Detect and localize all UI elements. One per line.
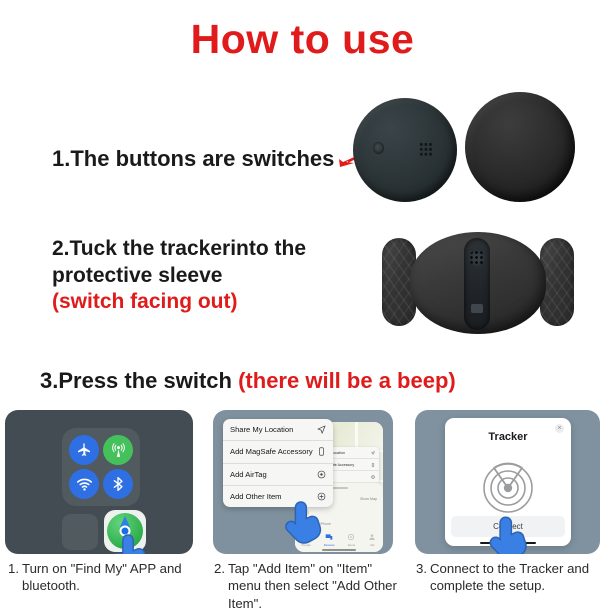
dialog-title: Tracker	[445, 431, 571, 443]
paper-plane-icon	[371, 451, 375, 455]
airtag-icon	[371, 475, 375, 479]
paper-plane-icon	[317, 425, 326, 434]
airplane-mode-toggle[interactable]	[69, 435, 99, 465]
caption-1: 1. Turn on "Find My" APP and bluetooth.	[8, 560, 203, 595]
cellular-data-toggle[interactable]	[103, 435, 133, 465]
wifi-toggle[interactable]	[69, 469, 99, 499]
caption-body: Tap "Add Item" on "Item" menu then selec…	[214, 560, 404, 612]
airplane-icon	[76, 442, 92, 458]
phone-icon	[317, 447, 326, 456]
items-icon	[347, 533, 355, 541]
step-2-text: 2.Tuck the trackerinto the protective sl…	[52, 236, 306, 316]
home-indicator	[322, 549, 356, 551]
menu-item-label: Add MagSafe Accessory	[230, 447, 313, 456]
caption-body: Turn on "Find My" APP and bluetooth.	[8, 560, 203, 595]
menu-item-add-magsafe-accessory[interactable]: Add MagSafe Accessory	[223, 441, 333, 463]
panel-tracker-dialog: Tracker × Connect	[415, 410, 600, 554]
step-3-red-text: (there will be a beep)	[238, 368, 456, 393]
tracker-button-icon	[373, 142, 384, 154]
caption-number: 3.	[416, 560, 427, 577]
tab-items[interactable]: Items	[347, 533, 355, 547]
tracker-speaker-grille-icon	[469, 250, 485, 266]
cellular-antenna-icon	[110, 442, 127, 459]
caption-number: 1.	[8, 560, 19, 577]
step-2-line-1: 2.Tuck the trackerinto the	[52, 236, 306, 263]
tab-label: Devices	[324, 543, 335, 547]
show-map-link[interactable]: Show Map	[360, 497, 377, 501]
step-2-line-2: protective sleeve	[52, 263, 306, 290]
step-captions: 1. Turn on "Find My" APP and bluetooth. …	[0, 560, 605, 614]
menu-item-share-my-location[interactable]: Share My Location	[223, 419, 333, 441]
airtag-icon	[317, 470, 326, 479]
tab-devices[interactable]: Devices	[324, 533, 335, 547]
menu-item-add-airtag[interactable]: Add AirTag	[223, 464, 333, 486]
close-icon[interactable]: ×	[555, 424, 564, 433]
bluetooth-toggle[interactable]	[103, 469, 133, 499]
step-3-black-text: 3.Press the switch	[40, 368, 232, 393]
menu-item-label: Add Other Item	[230, 492, 282, 501]
tracker-back-view	[465, 92, 575, 202]
step-2-line-3: (switch facing out)	[52, 289, 306, 316]
tracker-speaker-grille-icon	[419, 142, 433, 157]
panel-find-my-menu: Share My Location Add MagSafe Accessory …	[213, 410, 393, 554]
tab-me[interactable]: Me	[368, 533, 376, 547]
caption-number: 2.	[214, 560, 225, 577]
tracker-in-sleeve-image	[380, 232, 580, 334]
panel-control-center	[5, 410, 193, 554]
hand-pointer-icon	[283, 498, 325, 548]
menu-item-label: Add AirTag	[230, 470, 267, 479]
step-3-text: 3.Press the switch (there will be a beep…	[40, 368, 456, 394]
radar-icon	[478, 456, 538, 516]
sleeve-tab	[471, 304, 483, 313]
tracker-front-view	[353, 98, 457, 202]
wifi-icon	[76, 476, 93, 493]
tab-label: Me	[370, 543, 374, 547]
phone-icon	[371, 463, 375, 467]
devices-icon	[325, 533, 333, 541]
hand-pointer-icon	[111, 532, 151, 554]
caption-3: 3. Connect to the Tracker and complete t…	[416, 560, 604, 595]
bluetooth-icon	[110, 476, 126, 492]
connectivity-toggle-group	[62, 428, 140, 506]
menu-item-label: Share My Location	[230, 425, 293, 434]
instruction-panels: Share My Location Add MagSafe Accessory …	[0, 410, 605, 556]
me-icon	[368, 533, 376, 541]
sleeve-body	[410, 232, 546, 334]
hand-pointer-icon	[487, 514, 531, 554]
sleeve-slot	[464, 238, 490, 330]
add-item-context-menu: Share My Location Add MagSafe Accessory …	[223, 419, 333, 507]
caption-2: 2. Tap "Add Item" on "Item" menu then se…	[214, 560, 404, 612]
step-1-text: 1.The buttons are switches	[52, 146, 334, 172]
page-title: How to use	[0, 16, 605, 63]
blank-tile	[62, 514, 98, 550]
caption-body: Connect to the Tracker and complete the …	[416, 560, 604, 595]
tab-label: Items	[348, 543, 355, 547]
